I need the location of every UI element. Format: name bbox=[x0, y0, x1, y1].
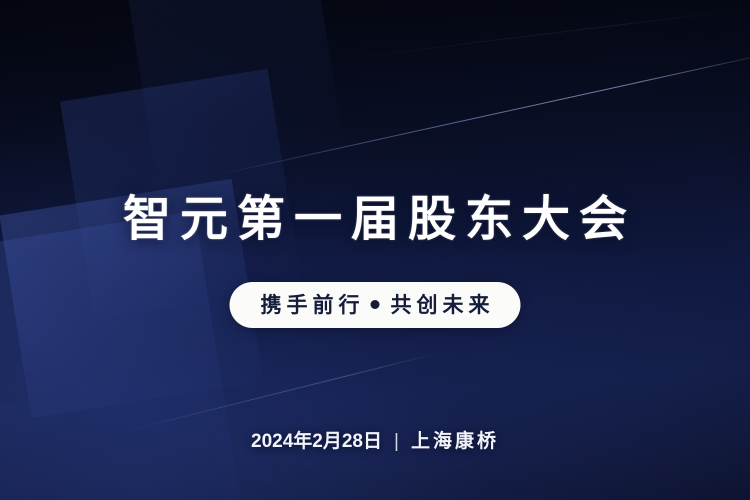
slogan-left: 携手前行 bbox=[261, 294, 365, 317]
slogan-right: 共创未来 bbox=[391, 294, 495, 317]
event-poster: 智元第一届股东大会 携手前行共创未来 2024年2月28日|上海康桥 bbox=[0, 0, 750, 500]
slogan-text: 携手前行共创未来 bbox=[256, 295, 495, 316]
poster-footer: 2024年2月28日|上海康桥 bbox=[0, 432, 750, 451]
footer-separator: | bbox=[394, 432, 399, 451]
event-venue: 上海康桥 bbox=[411, 431, 499, 452]
poster-title: 智元第一届股东大会 bbox=[0, 196, 750, 244]
event-date: 2024年2月28日 bbox=[251, 431, 382, 452]
slogan-dot-icon bbox=[371, 300, 380, 309]
slogan-pill: 携手前行共创未来 bbox=[230, 282, 521, 328]
poster-content: 智元第一届股东大会 携手前行共创未来 2024年2月28日|上海康桥 bbox=[0, 0, 750, 500]
